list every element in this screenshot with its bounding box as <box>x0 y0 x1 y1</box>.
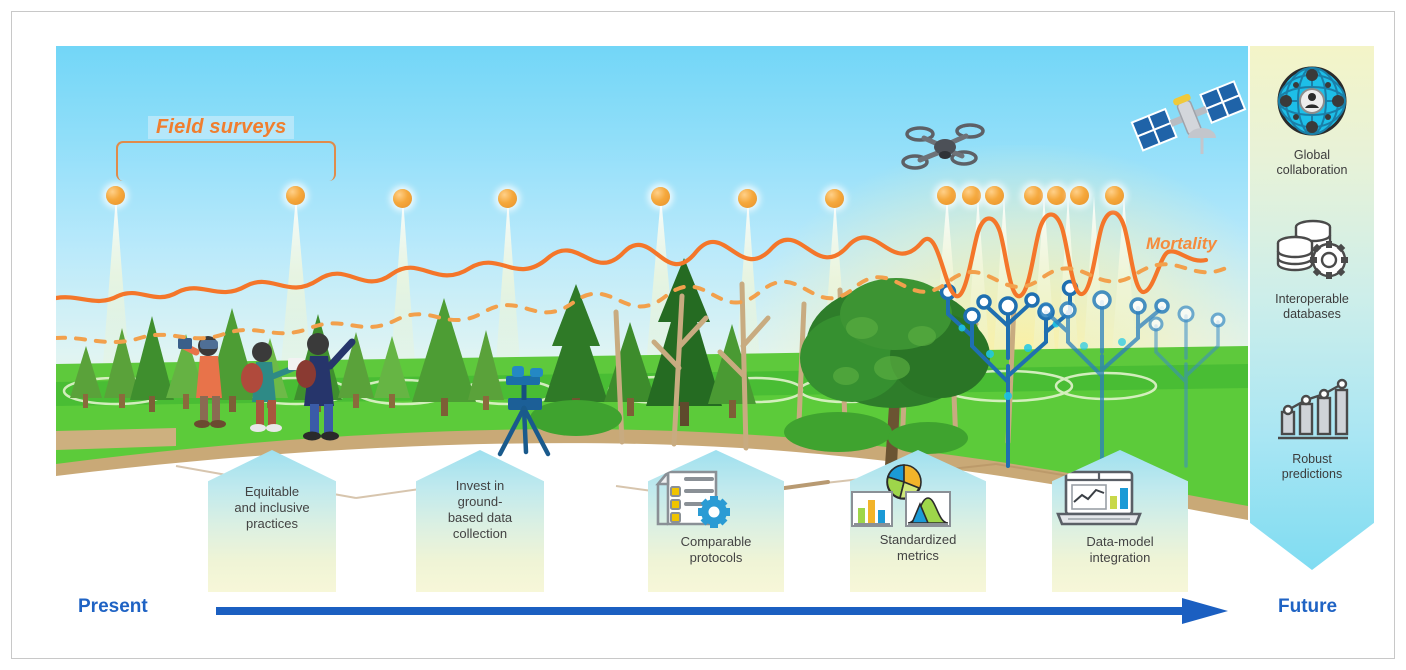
field-surveys-label: Field surveys <box>148 116 294 139</box>
caption-line: Interoperable <box>1250 292 1374 307</box>
survey-dot <box>106 186 125 205</box>
timeline: Present Future <box>56 592 1374 626</box>
right-panel-item-robust-predictions[interactable]: Robust predictions <box>1250 376 1374 483</box>
satellite-icon <box>1132 72 1248 172</box>
survey-dot <box>962 186 981 205</box>
right-panel-caption: Global collaboration <box>1250 148 1374 179</box>
survey-dot <box>1070 186 1089 205</box>
right-panel-item-interoperable-databases[interactable]: Interoperable databases <box>1250 218 1374 323</box>
banner-line: Data-model <box>1052 534 1188 550</box>
future-outcomes-panel: Global collaboration <box>1250 46 1374 570</box>
banner-line: collection <box>416 526 544 542</box>
globe-network-icon <box>1275 64 1349 138</box>
caption-line: databases <box>1250 307 1374 322</box>
banner-line: Equitable <box>208 484 336 500</box>
timeline-arrow <box>216 598 1236 624</box>
caption-line: Global <box>1250 148 1374 163</box>
banner-line: Invest in <box>416 478 544 494</box>
timeline-future-label: Future <box>1278 596 1337 618</box>
banner-text: Comparable protocols <box>648 534 784 566</box>
figure-frame: Field surveys Mortality <box>11 11 1395 659</box>
survey-dot <box>1024 186 1043 205</box>
banner-line: integration <box>1052 550 1188 566</box>
drone-icon <box>902 120 988 176</box>
banner-text: Standardized metrics <box>850 532 986 564</box>
right-panel-caption: Robust predictions <box>1250 452 1374 483</box>
right-panel-caption: Interoperable databases <box>1250 292 1374 323</box>
caption-line: collaboration <box>1250 163 1374 178</box>
distribution-chart-icon <box>906 492 950 526</box>
survey-dot <box>1105 186 1124 205</box>
laptop-chart-icon <box>1052 468 1146 530</box>
timeline-present-label: Present <box>78 596 148 618</box>
banner-line: protocols <box>648 550 784 566</box>
bar-chart-trend-icon <box>1274 376 1350 442</box>
right-panel-item-global-collaboration[interactable]: Global collaboration <box>1250 64 1374 179</box>
banner-line: Standardized <box>850 532 986 548</box>
mortality-curve-dashed <box>56 264 1226 342</box>
banner-line: metrics <box>850 548 986 564</box>
survey-dot <box>738 189 757 208</box>
survey-dot <box>1047 186 1066 205</box>
survey-dot <box>985 186 1004 205</box>
field-surveys-bracket <box>116 141 336 181</box>
caption-line: Robust <box>1250 452 1374 467</box>
banner-line: based data <box>416 510 544 526</box>
checklist-gear-icon <box>648 468 732 530</box>
survey-dot <box>498 189 517 208</box>
figure-canvas: Field surveys Mortality <box>0 0 1406 670</box>
mortality-label: Mortality <box>1146 234 1217 254</box>
banner-line: ground- <box>416 494 544 510</box>
survey-dot <box>393 189 412 208</box>
survey-dot <box>286 186 305 205</box>
banner-line: and inclusive <box>208 500 336 516</box>
database-gear-icon <box>1273 218 1351 282</box>
caption-line: predictions <box>1250 467 1374 482</box>
bar-chart-icon <box>852 492 892 526</box>
banner-text: Data-model integration <box>1052 534 1188 566</box>
mortality-curve-solid <box>56 213 1206 301</box>
survey-dot <box>825 189 844 208</box>
survey-dot <box>937 186 956 205</box>
banner-line: practices <box>208 516 336 532</box>
banner-line: Comparable <box>648 534 784 550</box>
survey-dot <box>651 187 670 206</box>
